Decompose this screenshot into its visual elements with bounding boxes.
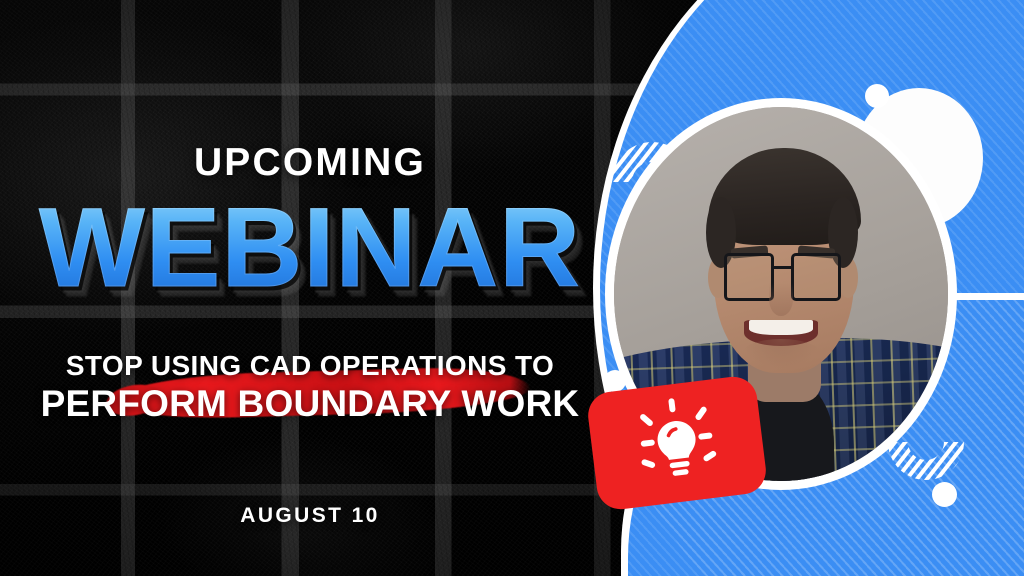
subtitle-line-2: PERFORM BOUNDARY WORK (0, 385, 620, 422)
portrait-chin-shadow (741, 339, 821, 369)
lightbulb-icon (626, 392, 729, 495)
white-dot-arc-end (932, 482, 957, 507)
webinar-promo-banner: UPCOMING WEBINAR STOP USING CAD OPERATIO… (0, 0, 1024, 576)
kicker-text: UPCOMING (0, 143, 620, 182)
portrait-nose (769, 283, 792, 317)
portrait-glasses-bridge (774, 266, 791, 269)
wordmark-webinar: WEBINAR (0, 192, 620, 304)
subtitle-line-1: STOP USING CAD OPERATIONS TO (0, 352, 620, 380)
portrait-eyeglass-right (791, 253, 841, 302)
headline-block: UPCOMING WEBINAR STOP USING CAD OPERATIO… (0, 0, 620, 576)
white-dot-top (865, 84, 889, 108)
portrait-teeth (749, 320, 814, 335)
portrait-eyeglass-left (724, 253, 774, 302)
event-date: AUGUST 10 (0, 505, 620, 526)
